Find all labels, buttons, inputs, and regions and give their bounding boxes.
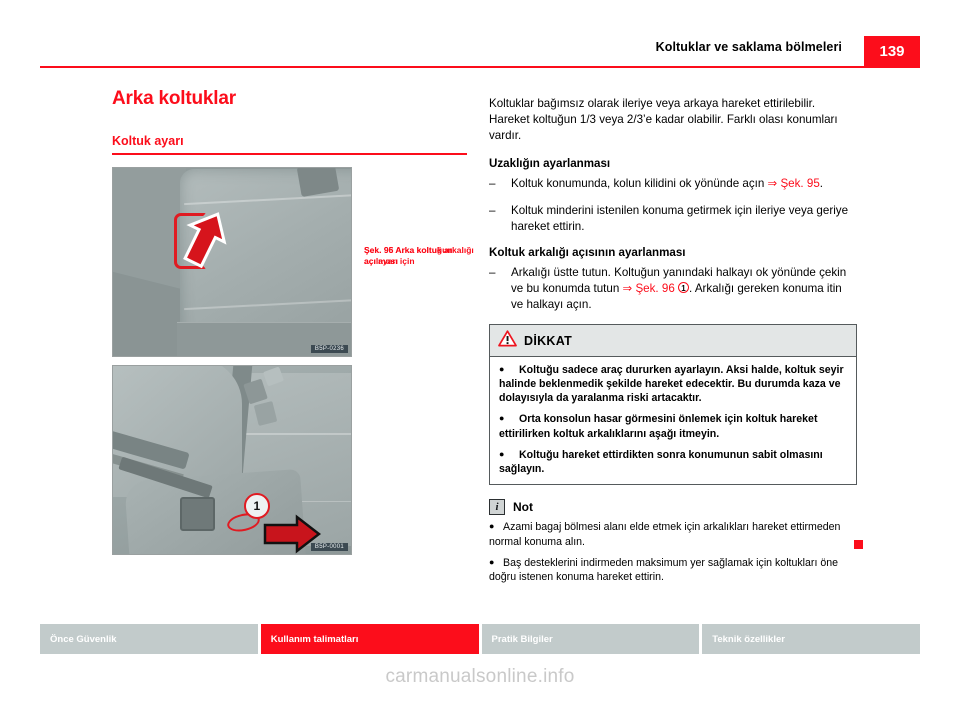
warning-item: ●Koltuğu hareket ettirdikten sonra konum… [499, 448, 847, 476]
footer-tab-technical-specs[interactable]: Teknik özellikler [702, 624, 920, 654]
figure-rear-seat-release: B5P-0236 [112, 167, 352, 357]
figure-backrest-angle: 1 B5P-0001 [112, 365, 352, 555]
dash-marker: – [489, 203, 495, 219]
warning-header: DİKKAT [490, 325, 856, 357]
page-number-badge: 139 [864, 36, 920, 66]
warning-item-text: Koltuğu hareket ettirdikten sonra konumu… [499, 449, 823, 475]
note-title: Not [513, 500, 533, 514]
warning-box: DİKKAT ●Koltuğu sadece araç dururken aya… [489, 324, 857, 485]
list-item-text: Koltuk minderini istenilen konuma getirm… [511, 204, 848, 233]
note-item: ●Baş desteklerini indirmeden maksimum ye… [489, 556, 857, 585]
footer-tab-operating-instructions[interactable]: Kullanım talimatları [261, 624, 479, 654]
cross-reference-link[interactable]: ⇒ Şek. 96 [623, 282, 675, 295]
list-item: –Koltuk konumunda, kolun kilidini ok yön… [489, 176, 857, 192]
note-header: i Not [489, 499, 857, 515]
warning-item: ●Koltuğu sadece araç dururken ayarlayın.… [499, 363, 847, 406]
bullet-marker: ● [499, 363, 513, 375]
heading-distance-adjustment: Uzaklığın ayarlanması [489, 157, 857, 170]
dash-marker: – [489, 265, 495, 281]
figure2-belt-buckle [180, 497, 215, 531]
right-column: Koltuklar bağımsız olarak ileriye veya a… [489, 96, 857, 592]
left-column: Arka koltuklar Koltuk ayarı B5P-0236 Şek… [112, 88, 467, 555]
heading-backrest-adjustment: Koltuk arkalığı açısının ayarlanması [489, 246, 857, 259]
list-item-text-tail: . [820, 177, 823, 190]
section-title: Arka koltuklar [112, 88, 467, 110]
subsection-title: Koltuk ayarı [112, 134, 467, 152]
warning-item-text: Koltuğu sadece araç dururken ayarlayın. … [499, 364, 844, 404]
cross-reference-link[interactable]: ⇒ Şek. 95 [768, 177, 820, 190]
list-item: –Arkalığı üstte tutun. Koltuğun yanındak… [489, 265, 857, 313]
note-item-text: Baş desteklerini indirmeden maksimum yer… [489, 557, 838, 583]
subsection-divider [112, 153, 467, 155]
bullet-marker: ● [499, 448, 513, 460]
warning-triangle-icon [498, 330, 517, 352]
warning-title: DİKKAT [524, 334, 572, 348]
footer-tab-bar: Önce Güvenlik Kullanım talimatları Prati… [40, 624, 920, 654]
figure2-right-seam-upper [239, 433, 352, 435]
footer-tab-safety[interactable]: Önce Güvenlik [40, 624, 258, 654]
page-header: Koltuklar ve saklama bölmeleri 139 [40, 38, 920, 68]
bullet-marker: ● [499, 412, 513, 424]
page-title: Koltuklar ve saklama bölmeleri [656, 40, 842, 54]
list-item: –Koltuk minderini istenilen konuma getir… [489, 203, 857, 235]
figure1-id-label: B5P-0236 [311, 345, 348, 353]
info-icon: i [489, 499, 505, 515]
intro-paragraph: Koltuklar bağımsız olarak ileriye veya a… [489, 96, 857, 144]
warning-item: ●Orta konsolun hasar görmesini önlemek i… [499, 412, 847, 440]
note-block: i Not ●Azami bagaj bölmesi alanı elde et… [489, 499, 857, 585]
note-item: ●Azami bagaj bölmesi alanı elde etmek iç… [489, 520, 857, 549]
list-item-text: Koltuk konumunda, kolun kilidini ok yönü… [511, 177, 768, 190]
dash-marker: – [489, 176, 495, 192]
note-item-text: Azami bagaj bölmesi alanı elde etmek içi… [489, 521, 840, 547]
watermark: carmanualsonline.info [0, 666, 960, 688]
callout-badge-1: 1 [678, 282, 689, 293]
warning-body: ●Koltuğu sadece araç dururken ayarlayın.… [490, 357, 856, 484]
end-of-section-marker [854, 540, 863, 549]
footer-tab-practical-info[interactable]: Pratik Bilgiler [482, 624, 700, 654]
figure2-id-label: B5P-0001 [311, 543, 348, 551]
header-divider [40, 66, 920, 68]
warning-item-text: Orta konsolun hasar görmesini önlemek iç… [499, 413, 817, 439]
bullet-marker: ● [489, 556, 503, 568]
bullet-marker: ● [489, 520, 503, 532]
figure2-caption: Şek. 96 Arka koltuk arkalığı açı ayarı [364, 245, 474, 267]
